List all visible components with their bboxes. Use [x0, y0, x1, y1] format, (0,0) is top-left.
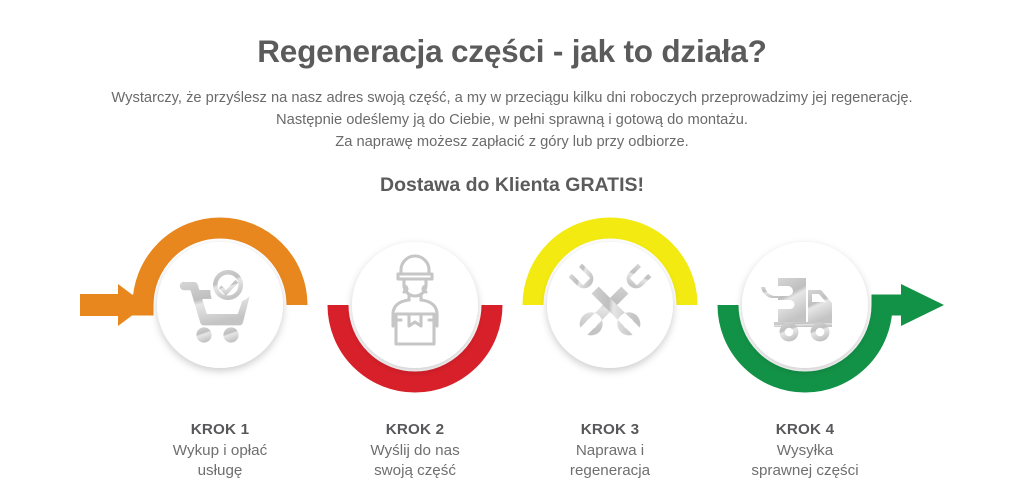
step-desc-4-line-2: sprawnej części	[700, 461, 910, 481]
step-caption-2: KROK 2 Wyślij do nas swoją część	[310, 420, 520, 481]
step-captions: KROK 1 Wykup i opłać usługę KROK 2 Wyśli…	[0, 420, 1024, 495]
step-desc-1-line-1: Wykup i opłać	[115, 441, 325, 461]
intro-line-2: Następnie odeślemy ją do Ciebie, w pełni…	[0, 109, 1024, 131]
intro-line-3: Za naprawę możesz zapłacić z góry lub pr…	[0, 131, 1024, 153]
step-desc-1-line-2: usługę	[115, 461, 325, 481]
step-desc-2-line-2: swoją część	[310, 461, 520, 481]
step-circle-2[interactable]	[352, 242, 478, 368]
step-label-2: KROK 2	[310, 420, 520, 441]
step-desc-4-line-1: Wysyłka	[700, 441, 910, 461]
infographic-page: Regeneracja części - jak to działa? Wyst…	[0, 0, 1024, 495]
header: Regeneracja części - jak to działa? Wyst…	[0, 0, 1024, 197]
step-label-4: KROK 4	[700, 420, 910, 441]
step-desc-3-line-2: regeneracja	[505, 461, 715, 481]
step-caption-4: KROK 4 Wysyłka sprawnej części	[700, 420, 910, 481]
process-flow-diagram	[0, 208, 1024, 408]
step-label-1: KROK 1	[115, 420, 325, 441]
step-caption-3: KROK 3 Naprawa i regeneracja	[505, 420, 715, 481]
step-desc-2-line-1: Wyślij do nas	[310, 441, 520, 461]
step-circle-3[interactable]	[547, 242, 673, 368]
intro-line-1: Wystarczy, że przyślesz na nasz adres sw…	[0, 87, 1024, 109]
step-desc-3-line-1: Naprawa i	[505, 441, 715, 461]
intro-paragraph: Wystarczy, że przyślesz na nasz adres sw…	[0, 71, 1024, 154]
step-label-3: KROK 3	[505, 420, 715, 441]
page-title: Regeneracja części - jak to działa?	[0, 0, 1024, 71]
step-circle-1[interactable]	[157, 242, 283, 368]
step-caption-1: KROK 1 Wykup i opłać usługę	[115, 420, 325, 481]
free-delivery-subtitle: Dostawa do Klienta GRATIS!	[0, 154, 1024, 197]
step-circle-4[interactable]	[742, 242, 868, 368]
